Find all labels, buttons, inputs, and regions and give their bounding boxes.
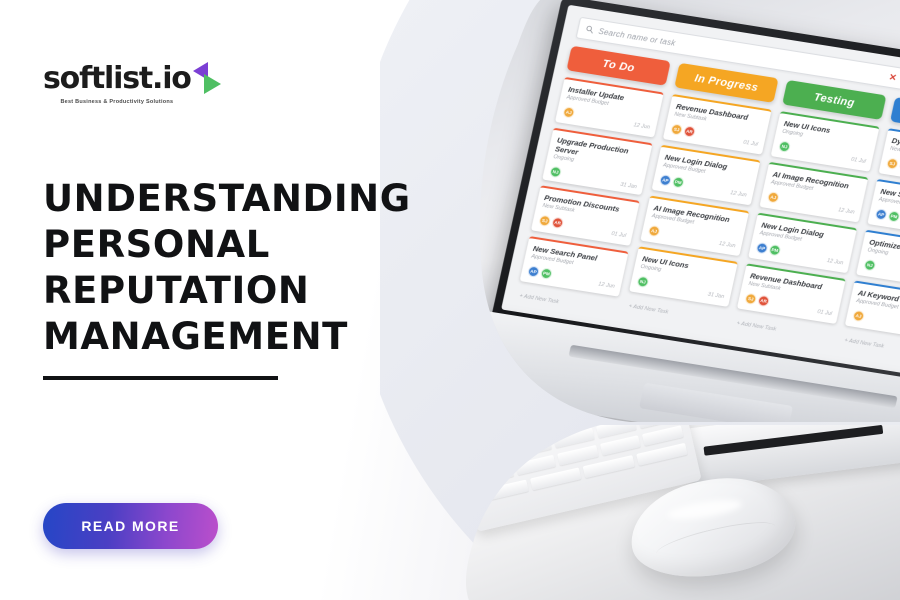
avatar[interactable]: AP [874,208,887,220]
kanban-card[interactable]: Revenue DashboardNew SubtaskSJAR01 Jul [737,263,846,324]
kanban-card[interactable]: Promotion DiscountsNew SubtaskSJAR01 Jul [531,185,640,246]
assignee-avatar-group: APPM [755,242,781,257]
kanban-card[interactable]: New UI IconsOngoingNJ31 Jan [629,246,738,307]
assignee-avatar-group: AJ [562,106,575,118]
avatar[interactable]: AJ [852,310,865,322]
avatar[interactable]: PM [672,176,685,188]
assignee-avatar-group: SJAR [886,157,900,172]
brand-tagline: Best Business & Productivity Solutions [43,99,191,105]
keyboard-key [583,455,635,478]
assignee-avatar-group: SJAR [538,215,564,230]
kanban-card-footer: SJAR01 Jul [886,157,900,182]
avatar[interactable]: NJ [778,140,791,152]
kanban-card[interactable]: AI Keyword SortingApproved BudgetAJ12 Ju… [845,280,900,341]
keyboard-key [600,435,641,456]
avatar[interactable]: AJ [648,225,661,237]
avatar[interactable]: SJ [744,293,757,305]
search-clear-icon[interactable]: ✕ [888,71,898,83]
brand-logo-marks [193,62,227,96]
kanban-card[interactable]: Upgrade Production ServerOngoingNJ31 Jan [542,128,652,195]
avatar[interactable]: PM [768,244,781,256]
title-divider [43,376,278,380]
assignee-avatar-group: APPM [874,208,900,223]
avatar[interactable]: AP [659,174,672,186]
kanban-card-due-date: 12 Jun [730,190,748,198]
avatar[interactable]: AJ [767,191,780,203]
assignee-avatar-group: SJAR [744,293,770,308]
keyboard-key [636,443,688,466]
kanban-card-due-date: 01 Jul [743,140,759,148]
kanban-card-due-date: 31 Jan [620,182,638,190]
assignee-avatar-group: AJ [648,225,661,237]
kanban-card-due-date: 01 Jul [850,157,866,165]
search-icon [585,25,595,34]
avatar[interactable]: AR [683,125,696,137]
kanban-card[interactable]: New Login DialogApproved BudgetAPPM12 Ju… [652,145,761,206]
avatar[interactable]: SJ [886,157,899,169]
keyboard-key [530,467,582,490]
kanban-card-due-date: 01 Jul [611,231,627,239]
avatar[interactable]: PM [540,267,553,279]
avatar[interactable]: AR [757,295,770,307]
kanban-card-due-date: 12 Jun [826,258,844,266]
kanban-app-screen: Search name or task ✕ To DoInstaller Upd… [501,5,900,374]
avatar[interactable]: AP [755,242,768,254]
add-new-task-button[interactable]: + Add New Task [841,337,900,359]
brand-logo-text: softlist.io Best Business & Productivity… [43,64,191,105]
kanban-card-footer: NJ31 Jan [863,259,900,284]
kanban-card[interactable]: New UI IconsOngoingNJ01 Jul [771,111,880,172]
add-new-task-button[interactable]: + Add New Task [733,320,833,342]
assignee-avatar-group: NJ [863,259,876,271]
assignee-avatar-group: AJ [852,310,865,322]
assignee-avatar-group: AJ [767,191,780,203]
assignee-avatar-group: NJ [778,140,791,152]
laptop-screen-dark-edge [703,425,883,456]
kanban-card-due-date: 12 Jun [633,122,651,130]
keyboard-key [557,445,598,466]
mouse-seam [654,516,778,566]
kanban-card[interactable]: New Login DialogApproved BudgetAPPM12 Ju… [748,213,857,274]
add-new-task-button[interactable]: + Add New Task [516,293,616,315]
laptop-trackpad [639,383,793,422]
kanban-card-footer: AJ12 Jun [852,310,900,335]
avatar[interactable]: PM [887,210,900,222]
kanban-card[interactable]: AI Image RecognitionApproved BudgetAJ12 … [759,162,868,223]
kanban-card[interactable]: Installer UpdateApproved BudgetAJ12 Jun [555,77,664,138]
brand-name: softlist.io [43,64,191,94]
kanban-card-due-date: 12 Jun [718,241,736,249]
add-new-task-button[interactable]: + Add New Task [625,303,725,325]
avatar[interactable]: NJ [863,259,876,271]
assignee-avatar-group: NJ [549,166,562,178]
avatar[interactable]: SJ [538,215,551,227]
avatar[interactable]: AJ [562,106,575,118]
page-title: Understanding Personal Reputation Manage… [43,176,413,360]
avatar[interactable]: AP [527,265,540,277]
kanban-card-due-date: 01 Jul [817,309,833,317]
assignee-avatar-group: NJ [636,276,649,288]
kanban-card[interactable]: Revenue DashboardNew SubtaskSJAR01 Jul [663,94,772,155]
kanban-card-due-date: 12 Jun [837,207,855,215]
read-more-button[interactable]: READ MORE [43,503,218,549]
keyboard-key [642,425,683,446]
avatar[interactable]: SJ [670,123,683,135]
brand-logo[interactable]: softlist.io Best Business & Productivity… [43,64,227,105]
kanban-card[interactable]: New Search PanelApproved BudgetAPPM12 Ju… [520,236,629,297]
assignee-avatar-group: APPM [659,174,685,189]
triangle-right-icon [204,74,221,94]
avatar[interactable]: NJ [636,276,649,288]
kanban-card[interactable]: AI Image RecognitionApproved BudgetAJ12 … [640,196,749,257]
kanban-card-due-date: 12 Jun [598,281,616,289]
kanban-card-due-date: 31 Jan [707,292,725,300]
kanban-card-footer: APPM12 Jun [874,208,900,233]
assignee-avatar-group: APPM [527,265,553,280]
avatar[interactable]: AR [551,217,564,229]
avatar[interactable]: NJ [549,166,562,178]
assignee-avatar-group: SJAR [670,123,696,138]
